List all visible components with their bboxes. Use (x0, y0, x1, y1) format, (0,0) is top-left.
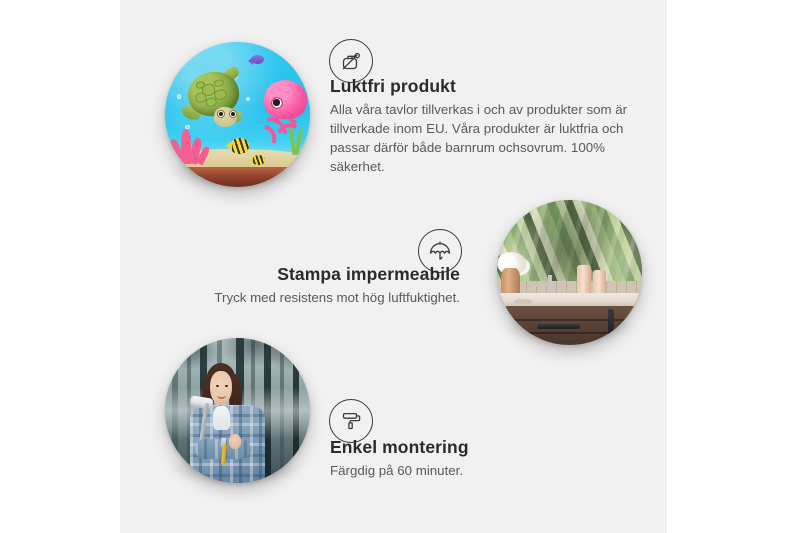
bathroom-photo (497, 200, 642, 345)
feature-image-underwater (165, 42, 310, 187)
underwater-illustration (165, 42, 310, 187)
feature-title-mounting: Enkel montering (330, 437, 620, 459)
feature-body-mounting: Färgdig på 60 minuter. (330, 462, 620, 481)
painter-forest-photo (165, 338, 310, 483)
feature-title-odourless: Luktfri produkt (330, 76, 632, 98)
feature-image-painter (165, 338, 310, 483)
feature-text-mounting: Enkel montering Färgdig på 60 minuter. (330, 437, 620, 481)
feature-body-odourless: Alla våra tavlor tillverkas i och av pro… (330, 101, 632, 177)
product-feature-banner: Luktfri produkt Alla våra tavlor tillver… (0, 0, 800, 533)
feature-body-waterproof: Tryck med resistens mot hög luftfuktighe… (180, 289, 460, 308)
feature-title-waterproof: Stampa impermeabile (180, 264, 460, 286)
feature-text-odourless: Luktfri produkt Alla våra tavlor tillver… (330, 76, 632, 176)
feature-image-bathroom (497, 200, 642, 345)
feature-text-waterproof: Stampa impermeabile Tryck med resistens … (180, 264, 460, 308)
feature-panel: Luktfri produkt Alla våra tavlor tillver… (120, 0, 667, 533)
